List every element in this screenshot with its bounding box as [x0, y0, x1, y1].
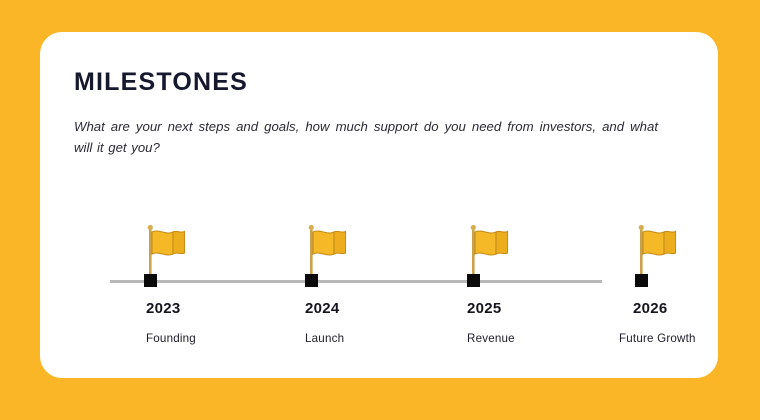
timeline-marker — [305, 274, 318, 287]
subtitle-text: What are your next steps and goals, how … — [74, 116, 658, 159]
timeline-marker — [635, 274, 648, 287]
milestone-label: Future Growth — [619, 332, 760, 345]
content-card: MILESTONES What are your next steps and … — [40, 32, 718, 378]
milestone-item[interactable]: 2026 Future Growth — [556, 182, 726, 372]
timeline-marker — [467, 274, 480, 287]
milestone-item[interactable]: 2025 Revenue — [388, 182, 558, 372]
page-title: MILESTONES — [74, 70, 248, 95]
milestone-item[interactable]: 2023 Founding — [65, 182, 235, 372]
milestone-year: 2026 — [633, 300, 760, 317]
milestone-item[interactable]: 2024 Launch — [226, 182, 396, 372]
slide-background: MILESTONES What are your next steps and … — [0, 0, 760, 420]
milestones-timeline: 2023 Founding 2024 Launch — [40, 182, 718, 372]
timeline-marker — [144, 274, 157, 287]
